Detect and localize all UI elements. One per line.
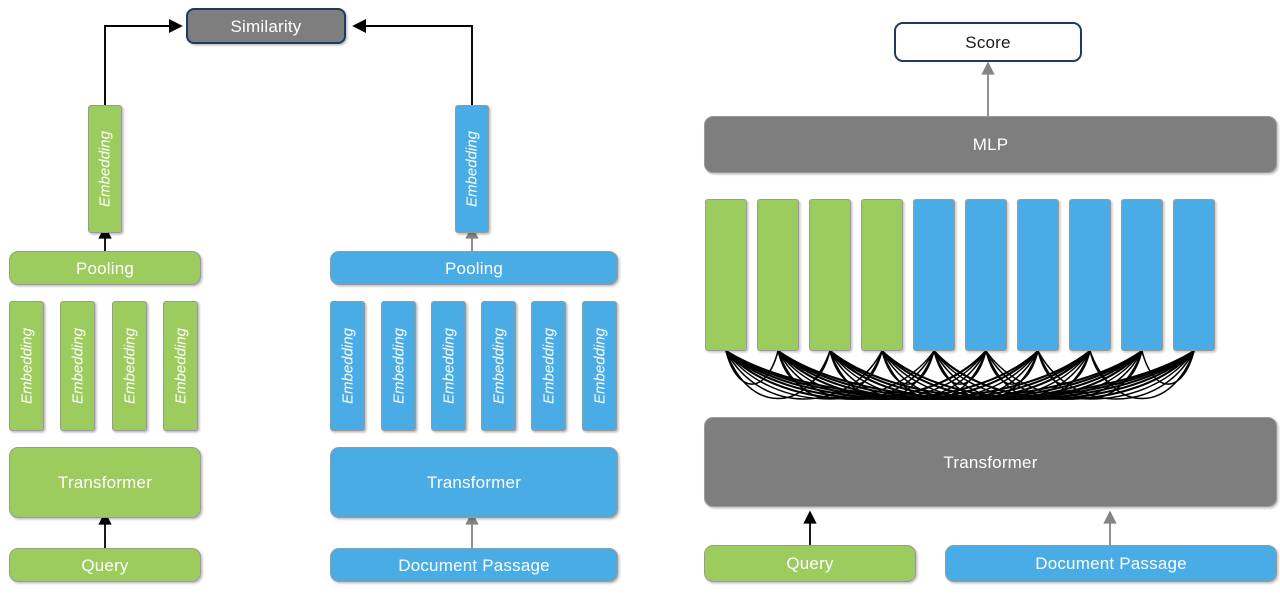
attention-arc-6-10 bbox=[986, 351, 1194, 399]
attention-arc-1-8 bbox=[726, 351, 1090, 399]
query-token-embedding-chip-1[interactable]: Embedding bbox=[9, 301, 44, 431]
cross-token-bar-1[interactable] bbox=[705, 199, 747, 351]
attention-arc-2-3 bbox=[778, 351, 830, 384]
document-token-embedding-label-6: Embedding bbox=[592, 328, 607, 404]
similarity-box[interactable]: Similarity bbox=[186, 8, 346, 44]
mlp-box[interactable]: MLP bbox=[704, 116, 1277, 173]
document-output-embedding-label: Embedding bbox=[465, 131, 480, 207]
attention-arc-3-4 bbox=[830, 351, 882, 384]
attention-arc-7-8 bbox=[1038, 351, 1090, 384]
arrow-query-embedding-to-similarity bbox=[105, 26, 176, 110]
document-token-embedding-label-3: Embedding bbox=[441, 328, 456, 404]
attention-arc-7-9 bbox=[1038, 351, 1142, 399]
attention-arc-2-6 bbox=[778, 351, 986, 399]
cross-token-bar-9[interactable] bbox=[1121, 199, 1163, 351]
attention-arc-5-6 bbox=[934, 351, 986, 384]
document-token-embedding-chip-1[interactable]: Embedding bbox=[330, 301, 365, 431]
query-token-embedding-label-4: Embedding bbox=[173, 328, 188, 404]
document-token-embedding-label-1: Embedding bbox=[340, 328, 355, 404]
attention-arc-5-9 bbox=[934, 351, 1142, 399]
attention-arc-6-8 bbox=[986, 351, 1090, 399]
query-pooling-box[interactable]: Pooling bbox=[9, 251, 201, 285]
document-token-embedding-chip-6[interactable]: Embedding bbox=[582, 301, 617, 431]
attention-arc-2-8 bbox=[778, 351, 1090, 399]
attention-arc-4-5 bbox=[882, 351, 934, 384]
attention-arc-5-8 bbox=[934, 351, 1090, 399]
attention-arc-5-7 bbox=[934, 351, 1038, 399]
arrow-document-embedding-to-similarity bbox=[359, 26, 472, 110]
document-transformer-box[interactable]: Transformer bbox=[330, 447, 618, 518]
query-token-embedding-chip-4[interactable]: Embedding bbox=[163, 301, 198, 431]
attention-arc-1-7 bbox=[726, 351, 1038, 399]
attention-arc-1-10 bbox=[726, 351, 1194, 399]
query-token-embedding-label-1: Embedding bbox=[19, 328, 34, 404]
attention-arc-3-10 bbox=[830, 351, 1194, 399]
attention-arc-4-7 bbox=[882, 351, 1038, 399]
cross-token-bar-4[interactable] bbox=[861, 199, 903, 351]
attention-arc-1-6 bbox=[726, 351, 986, 399]
document-token-embedding-label-4: Embedding bbox=[491, 328, 506, 404]
attention-arc-4-8 bbox=[882, 351, 1090, 399]
document-token-embedding-chip-5[interactable]: Embedding bbox=[531, 301, 566, 431]
attention-arc-8-10 bbox=[1090, 351, 1194, 399]
query-input-box[interactable]: Query bbox=[9, 548, 201, 582]
score-box[interactable]: Score bbox=[894, 22, 1082, 62]
attention-arc-1-5 bbox=[726, 351, 934, 399]
attention-arc-6-9 bbox=[986, 351, 1142, 399]
cross-token-bar-3[interactable] bbox=[809, 199, 851, 351]
query-token-embedding-label-3: Embedding bbox=[122, 328, 137, 404]
document-token-embedding-chip-2[interactable]: Embedding bbox=[381, 301, 416, 431]
attention-arc-2-4 bbox=[778, 351, 882, 399]
document-input-box[interactable]: Document Passage bbox=[330, 548, 618, 582]
document-token-embedding-label-2: Embedding bbox=[391, 328, 406, 404]
document-token-embedding-chip-4[interactable]: Embedding bbox=[481, 301, 516, 431]
cross-token-bar-5[interactable] bbox=[913, 199, 955, 351]
cross-transformer-box[interactable]: Transformer bbox=[704, 417, 1277, 507]
query-output-embedding-chip[interactable]: Embedding bbox=[88, 105, 122, 233]
cross-query-input-box[interactable]: Query bbox=[704, 545, 916, 582]
attention-arcs bbox=[726, 351, 1194, 399]
query-token-embedding-chip-3[interactable]: Embedding bbox=[112, 301, 147, 431]
attention-arc-1-4 bbox=[726, 351, 882, 399]
cross-token-bar-6[interactable] bbox=[965, 199, 1007, 351]
query-token-embedding-label-2: Embedding bbox=[70, 328, 85, 404]
attention-arc-3-8 bbox=[830, 351, 1090, 399]
attention-arc-7-10 bbox=[1038, 351, 1194, 399]
attention-arc-2-10 bbox=[778, 351, 1194, 399]
attention-arc-2-9 bbox=[778, 351, 1142, 399]
diagram-canvas: Similarity Embedding Pooling Embedding E… bbox=[0, 0, 1280, 597]
attention-arc-8-9 bbox=[1090, 351, 1142, 384]
attention-arc-6-7 bbox=[986, 351, 1038, 384]
attention-arc-4-9 bbox=[882, 351, 1142, 399]
attention-arc-2-7 bbox=[778, 351, 1038, 399]
query-transformer-box[interactable]: Transformer bbox=[9, 447, 201, 518]
attention-arc-3-6 bbox=[830, 351, 986, 399]
query-token-embedding-chip-2[interactable]: Embedding bbox=[60, 301, 95, 431]
cross-token-bar-2[interactable] bbox=[757, 199, 799, 351]
cross-document-input-box[interactable]: Document Passage bbox=[945, 545, 1277, 582]
attention-arc-3-9 bbox=[830, 351, 1142, 399]
attention-arc-4-6 bbox=[882, 351, 986, 399]
attention-arc-1-9 bbox=[726, 351, 1142, 399]
attention-arc-5-10 bbox=[934, 351, 1194, 399]
attention-arc-9-10 bbox=[1142, 351, 1194, 384]
attention-arc-4-10 bbox=[882, 351, 1194, 399]
cross-token-bar-7[interactable] bbox=[1017, 199, 1059, 351]
document-pooling-box[interactable]: Pooling bbox=[330, 251, 618, 285]
query-output-embedding-label: Embedding bbox=[98, 131, 113, 207]
cross-token-bar-8[interactable] bbox=[1069, 199, 1111, 351]
cross-token-bar-10[interactable] bbox=[1173, 199, 1215, 351]
attention-arc-3-7 bbox=[830, 351, 1038, 399]
attention-arc-1-3 bbox=[726, 351, 830, 399]
attention-arc-1-2 bbox=[726, 351, 778, 384]
document-output-embedding-chip[interactable]: Embedding bbox=[455, 105, 489, 233]
attention-arc-3-5 bbox=[830, 351, 934, 399]
document-token-embedding-chip-3[interactable]: Embedding bbox=[431, 301, 466, 431]
document-token-embedding-label-5: Embedding bbox=[541, 328, 556, 404]
attention-arc-2-5 bbox=[778, 351, 934, 399]
